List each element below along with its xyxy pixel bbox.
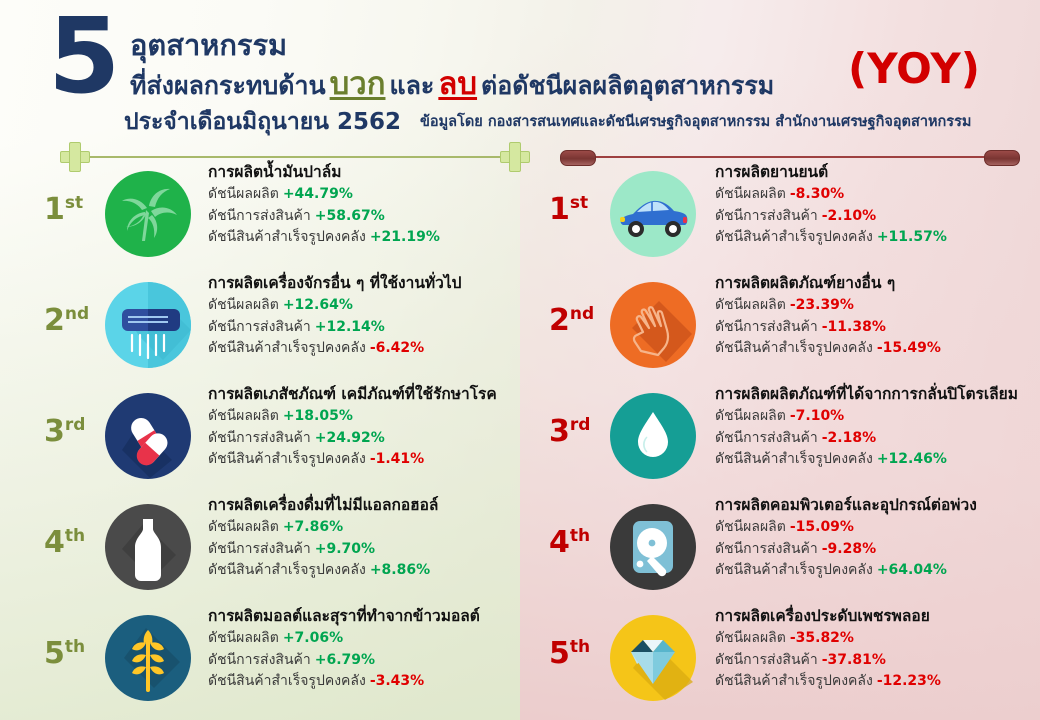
item-content: การผลิตเครื่องดื่มที่ไม่มีแอลกอฮอล์ ดัชน…: [208, 495, 540, 582]
metric-inventory: ดัชนีสินค้าสำเร็จรูปคงคลัง+64.04%: [715, 560, 1040, 582]
rank-badge: 1st: [44, 188, 83, 225]
divider-left-rule: [80, 156, 520, 158]
header: 5 อุตสาหกรรม ที่ส่งผลกระทบด้านบวกและลบต่…: [0, 0, 1040, 140]
rank-badge: 4th: [549, 521, 590, 558]
item-content: การผลิตน้ำมันปาล์ม ดัชนีผลผลิต+44.79% ดั…: [208, 162, 540, 249]
metric-inventory: ดัชนีสินค้าสำเร็จรูปคงคลัง-3.43%: [208, 671, 540, 693]
item-content: การผลิตเภสัชภัณฑ์ เคมีภัณฑ์ที่ใช้รักษาโร…: [208, 384, 540, 471]
metric-production: ดัชนีผลผลิต+7.86%: [208, 517, 540, 539]
metric-production: ดัชนีผลผลิต+7.06%: [208, 628, 540, 650]
rank-badge: 2nd: [44, 299, 89, 336]
divider-right-rule: [582, 156, 998, 158]
metric-shipment: ดัชนีการส่งสินค้า+58.67%: [208, 206, 540, 228]
column-negative-industries: 1st การผลิตยานยนต์ ดัชนีผลผลิต-: [545, 160, 1040, 715]
rank-badge: 3rd: [44, 410, 85, 447]
rank-badge: 3rd: [549, 410, 590, 447]
item-content: การผลิตคอมพิวเตอร์และอุปกรณ์ต่อพ่วง ดัชน…: [715, 495, 1040, 582]
list-item[interactable]: 4th การผลิตเครื่องดื่มที่ไม่มีแอลกอฮอล์ …: [40, 493, 540, 604]
wheat-icon: [102, 612, 194, 704]
list-item[interactable]: 5th การผลิตเครื่องประดับเพชรพลอย ดัชนีผล…: [545, 604, 1040, 715]
pills-icon: [102, 390, 194, 482]
metric-production: ดัชนีผลผลิต+12.64%: [208, 295, 540, 317]
list-item[interactable]: 2nd: [40, 271, 540, 382]
metric-shipment: ดัชนีการส่งสินค้า+12.14%: [208, 317, 540, 339]
header-line2-prefix: ที่ส่งผลกระทบด้าน: [130, 71, 326, 100]
item-content: การผลิตยานยนต์ ดัชนีผลผลิต-8.30% ดัชนีกา…: [715, 162, 1040, 249]
header-positive-word: บวก: [326, 66, 390, 102]
metric-shipment: ดัชนีการส่งสินค้า-37.81%: [715, 650, 1040, 672]
industry-title: การผลิตเครื่องจักรอื่น ๆ ที่ใช้งานทั่วไป: [208, 273, 540, 293]
glove-icon: [607, 279, 699, 371]
metric-inventory: ดัชนีสินค้าสำเร็จรูปคงคลัง+21.19%: [208, 227, 540, 249]
infographic-canvas: 5 อุตสาหกรรม ที่ส่งผลกระทบด้านบวกและลบต่…: [0, 0, 1040, 720]
industry-title: การผลิตน้ำมันปาล์ม: [208, 162, 540, 182]
industry-title: การผลิตเภสัชภัณฑ์ เคมีภัณฑ์ที่ใช้รักษาโร…: [208, 384, 540, 404]
item-content: การผลิตเครื่องประดับเพชรพลอย ดัชนีผลผลิต…: [715, 606, 1040, 693]
metric-inventory: ดัชนีสินค้าสำเร็จรูปคงคลัง-6.42%: [208, 338, 540, 360]
car-icon: [607, 168, 699, 260]
industry-title: การผลิตผลิตภัณฑ์ที่ได้จากการกลั่นปิโตรเล…: [715, 384, 1040, 404]
palm-tree-icon: [102, 168, 194, 260]
yoy-badge: (YOY): [848, 44, 980, 93]
metric-production: ดัชนีผลผลิต-23.39%: [715, 295, 1040, 317]
metric-inventory: ดัชนีสินค้าสำเร็จรูปคงคลัง-1.41%: [208, 449, 540, 471]
metric-shipment: ดัชนีการส่งสินค้า+6.79%: [208, 650, 540, 672]
metric-production: ดัชนีผลผลิต-7.10%: [715, 406, 1040, 428]
metric-inventory: ดัชนีสินค้าสำเร็จรูปคงคลัง+12.46%: [715, 449, 1040, 471]
metric-production: ดัชนีผลผลิต-15.09%: [715, 517, 1040, 539]
header-period: ประจำเดือนมิถุนายน 2562: [124, 104, 401, 140]
industry-title: การผลิตมอลต์และสุราที่ทำจากข้าวมอลต์: [208, 606, 540, 626]
metric-production: ดัชนีผลผลิต-8.30%: [715, 184, 1040, 206]
list-item[interactable]: 2nd การผลิตผลิตภัณฑ์ยางอื่น ๆ ดัชนีผลผลิ…: [545, 271, 1040, 382]
item-content: การผลิตมอลต์และสุราที่ทำจากข้าวมอลต์ ดัช…: [208, 606, 540, 693]
industry-title: การผลิตยานยนต์: [715, 162, 1040, 182]
metric-production: ดัชนีผลผลิต-35.82%: [715, 628, 1040, 650]
industry-title: การผลิตเครื่องประดับเพชรพลอย: [715, 606, 1040, 626]
air-conditioner-icon: [102, 279, 194, 371]
metric-shipment: ดัชนีการส่งสินค้า-2.10%: [715, 206, 1040, 228]
metric-inventory: ดัชนีสินค้าสำเร็จรูปคงคลัง-15.49%: [715, 338, 1040, 360]
metric-shipment: ดัชนีการส่งสินค้า-11.38%: [715, 317, 1040, 339]
industry-title: การผลิตเครื่องดื่มที่ไม่มีแอลกอฮอล์: [208, 495, 540, 515]
metric-shipment: ดัชนีการส่งสินค้า-9.28%: [715, 539, 1040, 561]
metric-inventory: ดัชนีสินค้าสำเร็จรูปคงคลัง-12.23%: [715, 671, 1040, 693]
list-item[interactable]: 1st การผลิตน้ำมันปาล์ม: [40, 160, 540, 271]
hard-disk-icon: [607, 501, 699, 593]
list-item[interactable]: 3rd การผลิตเภสัชภัณฑ์ เคมีภัณฑ์ที่ใ: [40, 382, 540, 493]
oil-drop-icon: [607, 390, 699, 482]
item-content: การผลิตเครื่องจักรอื่น ๆ ที่ใช้งานทั่วไป…: [208, 273, 540, 360]
metric-inventory: ดัชนีสินค้าสำเร็จรูปคงคลัง+8.86%: [208, 560, 540, 582]
item-content: การผลิตผลิตภัณฑ์ที่ได้จากการกลั่นปิโตรเล…: [715, 384, 1040, 471]
rank-badge: 1st: [549, 188, 588, 225]
rank-badge: 5th: [549, 632, 590, 669]
data-source-credit: ข้อมูลโดย กองสารสนเทศและดัชนีเศรษฐกิจอุต…: [420, 110, 971, 133]
rank-badge: 5th: [44, 632, 85, 669]
header-title-line2: ที่ส่งผลกระทบด้านบวกและลบต่อดัชนีผลผลิตอ…: [130, 58, 774, 108]
list-item[interactable]: 1st การผลิตยานยนต์ ดัชนีผลผลิต-: [545, 160, 1040, 271]
header-line2-and: และ: [389, 71, 434, 100]
industry-title: การผลิตผลิตภัณฑ์ยางอื่น ๆ: [715, 273, 1040, 293]
list-item[interactable]: 4th การผลิตคอมพิวเตอร์และอุปกรณ์ต่อพ่วง …: [545, 493, 1040, 604]
industry-title: การผลิตคอมพิวเตอร์และอุปกรณ์ต่อพ่วง: [715, 495, 1040, 515]
bottle-icon: [102, 501, 194, 593]
header-line2-suffix: ต่อดัชนีผลผลิตอุตสาหกรรม: [481, 71, 774, 100]
diamond-icon: [607, 612, 699, 704]
metric-production: ดัชนีผลผลิต+18.05%: [208, 406, 540, 428]
metric-shipment: ดัชนีการส่งสินค้า+24.92%: [208, 428, 540, 450]
rank-badge: 4th: [44, 521, 85, 558]
rank-badge: 2nd: [549, 299, 594, 336]
header-negative-word: ลบ: [434, 66, 481, 102]
metric-shipment: ดัชนีการส่งสินค้า-2.18%: [715, 428, 1040, 450]
metric-production: ดัชนีผลผลิต+44.79%: [208, 184, 540, 206]
list-item[interactable]: 5th: [40, 604, 540, 715]
item-content: การผลิตผลิตภัณฑ์ยางอื่น ๆ ดัชนีผลผลิต-23…: [715, 273, 1040, 360]
list-item[interactable]: 3rd การผลิตผลิตภัณฑ์ที่ได้จากการกลั่นปิโ…: [545, 382, 1040, 493]
metric-shipment: ดัชนีการส่งสินค้า+9.70%: [208, 539, 540, 561]
metric-inventory: ดัชนีสินค้าสำเร็จรูปคงคลัง+11.57%: [715, 227, 1040, 249]
column-positive-industries: 1st การผลิตน้ำมันปาล์ม: [40, 160, 540, 715]
big-number-five: 5: [48, 4, 117, 108]
